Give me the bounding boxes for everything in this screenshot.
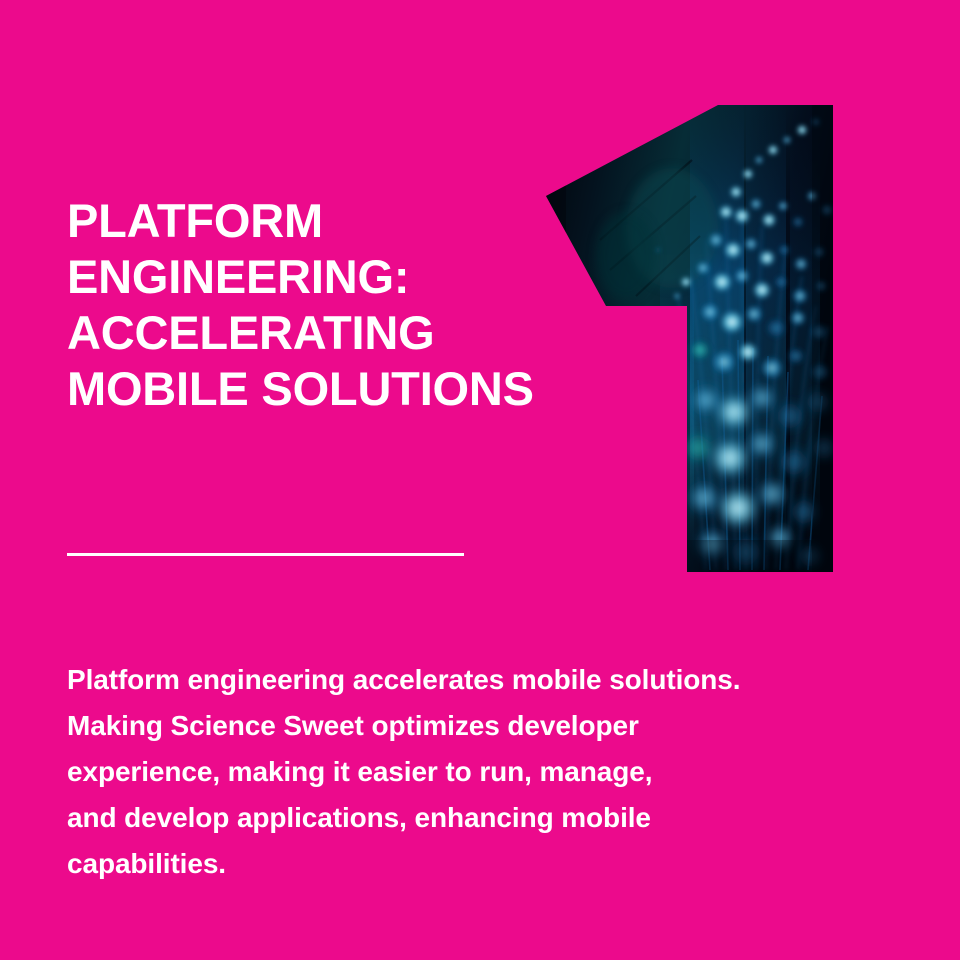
divider-rule	[67, 553, 464, 556]
slide-canvas: PLATFORM ENGINEERING: ACCELERATING MOBIL…	[0, 0, 960, 960]
page-title: PLATFORM ENGINEERING: ACCELERATING MOBIL…	[67, 193, 647, 417]
body-paragraph: Platform engineering accelerates mobile …	[67, 657, 887, 887]
